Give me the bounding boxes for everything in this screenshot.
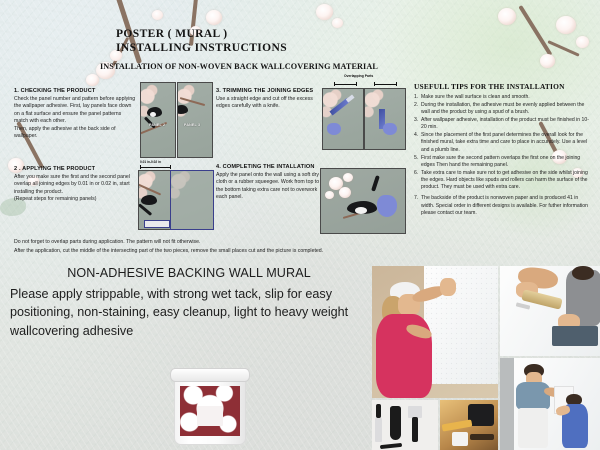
diagram-panel-3: PANEL 3: [177, 82, 213, 158]
photo-collage: [372, 266, 600, 450]
bucket-body: [174, 377, 246, 445]
paste-tray: [552, 326, 598, 346]
roller-sleeve: [452, 432, 468, 446]
step-1-measure: 0.01 in-0.02 in: [140, 160, 214, 170]
step-3: 3. TRIMMING THE JOINING EDGES Use a stra…: [216, 88, 322, 111]
instruction-sheet: POSTER ( MURAL ) INSTALLING INSTRUCTIONS…: [0, 0, 600, 450]
tip-item: 2.During the installation, the adhesive …: [414, 102, 592, 117]
tip-number: 3.: [414, 117, 418, 124]
promo-body: Please apply strippable, with strong wet…: [10, 285, 368, 340]
step-3-diagram: Overlapping Parts: [322, 74, 406, 160]
bucket-label-card: [197, 406, 223, 426]
tip-number: 7.: [414, 195, 418, 202]
diagram-finished-panel: [320, 168, 406, 234]
promo-block: NON-ADHESIVE BACKING WALL MURAL Please a…: [10, 266, 368, 340]
tool-bar: [470, 434, 494, 440]
page-title: POSTER ( MURAL ): [116, 28, 406, 40]
photo-wallpaper-tools: [372, 400, 438, 450]
step-4-diagram: [320, 168, 406, 234]
panel-2-label: PANEL 2: [149, 123, 165, 127]
diagram-trim-right: [364, 88, 406, 150]
step-2-diagram: [138, 170, 214, 232]
step-2-body: After you make sure the first and the se…: [14, 174, 136, 204]
tip-item: 6.Take extra care to make sure not to ge…: [414, 170, 592, 192]
adhesive-bucket-image: [170, 368, 248, 446]
footnotes: Do not forget to overlap parts during ap…: [14, 238, 444, 257]
tips-heading: USEFULL TIPS FOR THE INSTALLATION: [414, 82, 592, 91]
step-3-heading: 3. TRIMMING THE JOINING EDGES: [216, 88, 322, 94]
footnote-1: Do not forget to overlap parts during ap…: [14, 238, 444, 247]
tip-number: 6.: [414, 170, 418, 177]
footnote-2: After the application, cut the middle of…: [14, 247, 444, 256]
tips-list: 1.Make sure the wall surface is clean an…: [414, 94, 592, 217]
tip-item: 3.After wallpaper adhesive, installation…: [414, 117, 592, 132]
tip-item: 5.First make sure the second pattern ove…: [414, 155, 592, 170]
material-subtitle: INSTALLATION OF NON-WOVEN BACK WALLCOVER…: [100, 62, 430, 71]
tip-item: 4.Since the placement of the first panel…: [414, 132, 592, 154]
tips-section: USEFULL TIPS FOR THE INSTALLATION 1.Make…: [414, 82, 592, 218]
step-3-body: Use a straight edge and cut off the exce…: [216, 96, 322, 111]
document-header: POSTER ( MURAL ) INSTALLING INSTRUCTIONS: [106, 28, 406, 54]
tip-text: Make sure the wall surface is clean and …: [421, 94, 530, 100]
tip-text: During the installation, the adhesive mu…: [421, 102, 584, 115]
diagram-trim-left: [322, 88, 364, 150]
step-1: 1. CHECKING THE PRODUCT Check the panel …: [14, 88, 136, 140]
head: [572, 266, 594, 280]
panel-3-label: PANEL 3: [184, 123, 200, 127]
tip-number: 5.: [414, 155, 418, 162]
diagram-panel-2: PANEL 2: [140, 82, 176, 158]
step-4: 4. COMPLETING THE INTALLATION Apply the …: [216, 164, 322, 202]
bucket-lid: [170, 368, 250, 382]
tip-item: 7.The backside of the product is nonwove…: [414, 195, 592, 217]
tip-text: After wallpaper adhesive, installation o…: [421, 117, 589, 130]
tip-text: The backside of the product is nonwoven …: [421, 195, 588, 216]
tip-number: 1.: [414, 94, 418, 101]
tip-text: Since the placement of the first panel d…: [421, 132, 587, 153]
man-pants: [518, 408, 548, 448]
man-shirt: [516, 382, 550, 410]
diagram-panel-next: [170, 170, 214, 230]
tip-item: 1.Make sure the wall surface is clean an…: [414, 94, 592, 101]
photo-hands-with-roller: [500, 266, 600, 356]
tip-number: 4.: [414, 132, 418, 139]
tip-text: First make sure the second pattern overl…: [421, 155, 580, 168]
photo-woman-applying-wallpaper: [372, 266, 498, 398]
step-1-diagram: PANEL 2 PANEL 3: [140, 82, 214, 160]
step-1-body: Check the panel number and pattern befor…: [14, 96, 136, 140]
step-1-heading: 1. CHECKING THE PRODUCT: [14, 88, 136, 94]
squeegee-tool: [144, 220, 170, 228]
measure-label-left: 0.01 in-0.02 in: [140, 160, 161, 164]
photo-paste-and-brushes: [440, 400, 498, 450]
step-4-body: Apply the panel onto the wall using a so…: [216, 172, 322, 202]
page-subtitle: INSTALLING INSTRUCTIONS: [116, 42, 406, 54]
tip-number: 2.: [414, 102, 418, 109]
hand-on-wall: [440, 278, 456, 296]
bucket-label: [180, 386, 240, 436]
step-4-heading: 4. COMPLETING THE INTALLATION: [216, 164, 322, 170]
overlapping-parts-label: Overlapping Parts: [344, 74, 373, 78]
step-2: 2 . APPLYING THE PRODUCT After you make …: [14, 166, 136, 204]
photo-man-and-child: [500, 358, 600, 450]
step-2-heading: 2 . APPLYING THE PRODUCT: [14, 166, 136, 172]
tip-text: Take extra care to make sure not to get …: [421, 170, 588, 191]
promo-title: NON-ADHESIVE BACKING WALL MURAL: [10, 266, 368, 280]
